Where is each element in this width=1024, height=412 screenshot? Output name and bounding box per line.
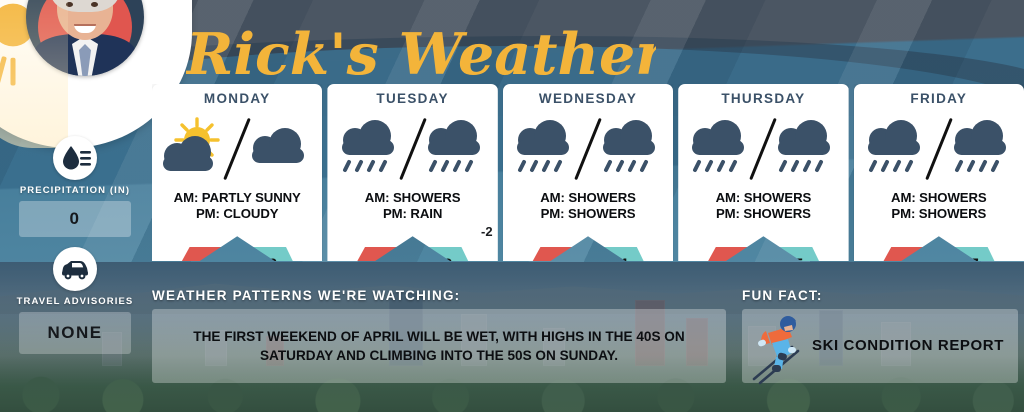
- rain-cloud-icon: [333, 116, 407, 178]
- forecast-pm: PM: CLOUDY: [152, 206, 322, 222]
- forecast-icons: [678, 108, 848, 186]
- forecast-day-label: MONDAY: [152, 91, 322, 106]
- forecast-card-monday[interactable]: MONDAY: [152, 84, 322, 261]
- fun-fact-heading: FUN FACT:: [742, 288, 1018, 303]
- forecast-conditions: AM: SHOWERS PM: SHOWERS: [678, 190, 848, 222]
- sidebar-label-travel-advisories: TRAVEL ADVISORIES: [0, 296, 150, 307]
- weather-graphic: Rick's Weather Corner PRECIPITATION (IN)…: [0, 0, 1024, 412]
- forecast-card-tuesday[interactable]: TUESDAY: [327, 84, 497, 261]
- forecast-row: MONDAY: [152, 84, 1024, 274]
- precipitation-value: 0: [19, 201, 131, 237]
- stray-text-artifact: -2: [481, 224, 493, 239]
- forecast-am: AM: SHOWERS: [678, 190, 848, 206]
- forecast-day-label: TUESDAY: [327, 91, 497, 106]
- forecast-am: AM: SHOWERS: [503, 190, 673, 206]
- forecast-conditions: AM: SHOWERS PM: SHOWERS: [503, 190, 673, 222]
- forecast-icons: [327, 108, 497, 186]
- travel-advisories-value: NONE: [19, 312, 131, 354]
- sidebar-item-travel-advisories: TRAVEL ADVISORIES NONE: [0, 247, 150, 354]
- rain-cloud-icon: [594, 116, 668, 178]
- rain-cloud-icon: [945, 116, 1019, 178]
- forecast-conditions: AM: SHOWERS PM: RAIN: [327, 190, 497, 222]
- forecast-icons: [503, 108, 673, 186]
- skier-icon: [748, 307, 814, 385]
- weather-patterns-panel: WEATHER PATTERNS WE'RE WATCHING: THE FIR…: [152, 288, 726, 383]
- rain-cloud-icon: [419, 116, 493, 178]
- rain-cloud-icon: [859, 116, 933, 178]
- forecast-card-thursday[interactable]: THURSDAY: [678, 84, 848, 261]
- weather-patterns-heading: WEATHER PATTERNS WE'RE WATCHING:: [152, 288, 726, 303]
- forecast-pm: PM: SHOWERS: [678, 206, 848, 222]
- rain-cloud-icon: [683, 116, 757, 178]
- avatar: [26, 0, 144, 76]
- page-title: Rick's Weather Corner: [186, 14, 656, 92]
- rain-cloud-icon: [769, 116, 843, 178]
- fun-fact-body[interactable]: SKI CONDITION REPORT: [742, 309, 1018, 383]
- weather-patterns-body: THE FIRST WEEKEND OF APRIL WILL BE WET, …: [152, 309, 726, 383]
- forecast-conditions: AM: PARTLY SUNNY PM: CLOUDY: [152, 190, 322, 222]
- forecast-am: AM: SHOWERS: [854, 190, 1024, 206]
- forecast-conditions: AM: SHOWERS PM: SHOWERS: [854, 190, 1024, 222]
- fun-fact-panel: FUN FACT: SKI CONDITION REPORT: [742, 288, 1018, 383]
- forecast-card-wednesday[interactable]: WEDNESDAY: [503, 84, 673, 261]
- sun-behind-cloud-icon: [157, 116, 231, 178]
- rain-cloud-icon: [508, 116, 582, 178]
- forecast-am: AM: SHOWERS: [327, 190, 497, 206]
- forecast-day-label: THURSDAY: [678, 91, 848, 106]
- forecast-card-friday[interactable]: FRIDAY: [854, 84, 1024, 261]
- sidebar-label-precipitation: PRECIPITATION (IN): [0, 185, 150, 196]
- fun-fact-text: SKI CONDITION REPORT: [812, 336, 1004, 356]
- forecast-pm: PM: RAIN: [327, 206, 497, 222]
- sidebar: PRECIPITATION (IN) 0 TRAVEL ADVISORIES N…: [0, 136, 150, 364]
- page-title-text: Rick's Weather Corner: [186, 21, 656, 88]
- sidebar-item-precipitation: PRECIPITATION (IN) 0: [0, 136, 150, 237]
- forecast-am: AM: PARTLY SUNNY: [152, 190, 322, 206]
- forecast-pm: PM: SHOWERS: [854, 206, 1024, 222]
- forecast-icons: [152, 108, 322, 186]
- forecast-day-label: FRIDAY: [854, 91, 1024, 106]
- car-icon: [53, 247, 97, 291]
- forecast-pm: PM: SHOWERS: [503, 206, 673, 222]
- forecast-icons: [854, 108, 1024, 186]
- cloud-icon: [243, 116, 317, 178]
- sunburst-icon: [0, 0, 76, 88]
- forecast-day-label: WEDNESDAY: [503, 91, 673, 106]
- precipitation-droplet-icon: [53, 136, 97, 180]
